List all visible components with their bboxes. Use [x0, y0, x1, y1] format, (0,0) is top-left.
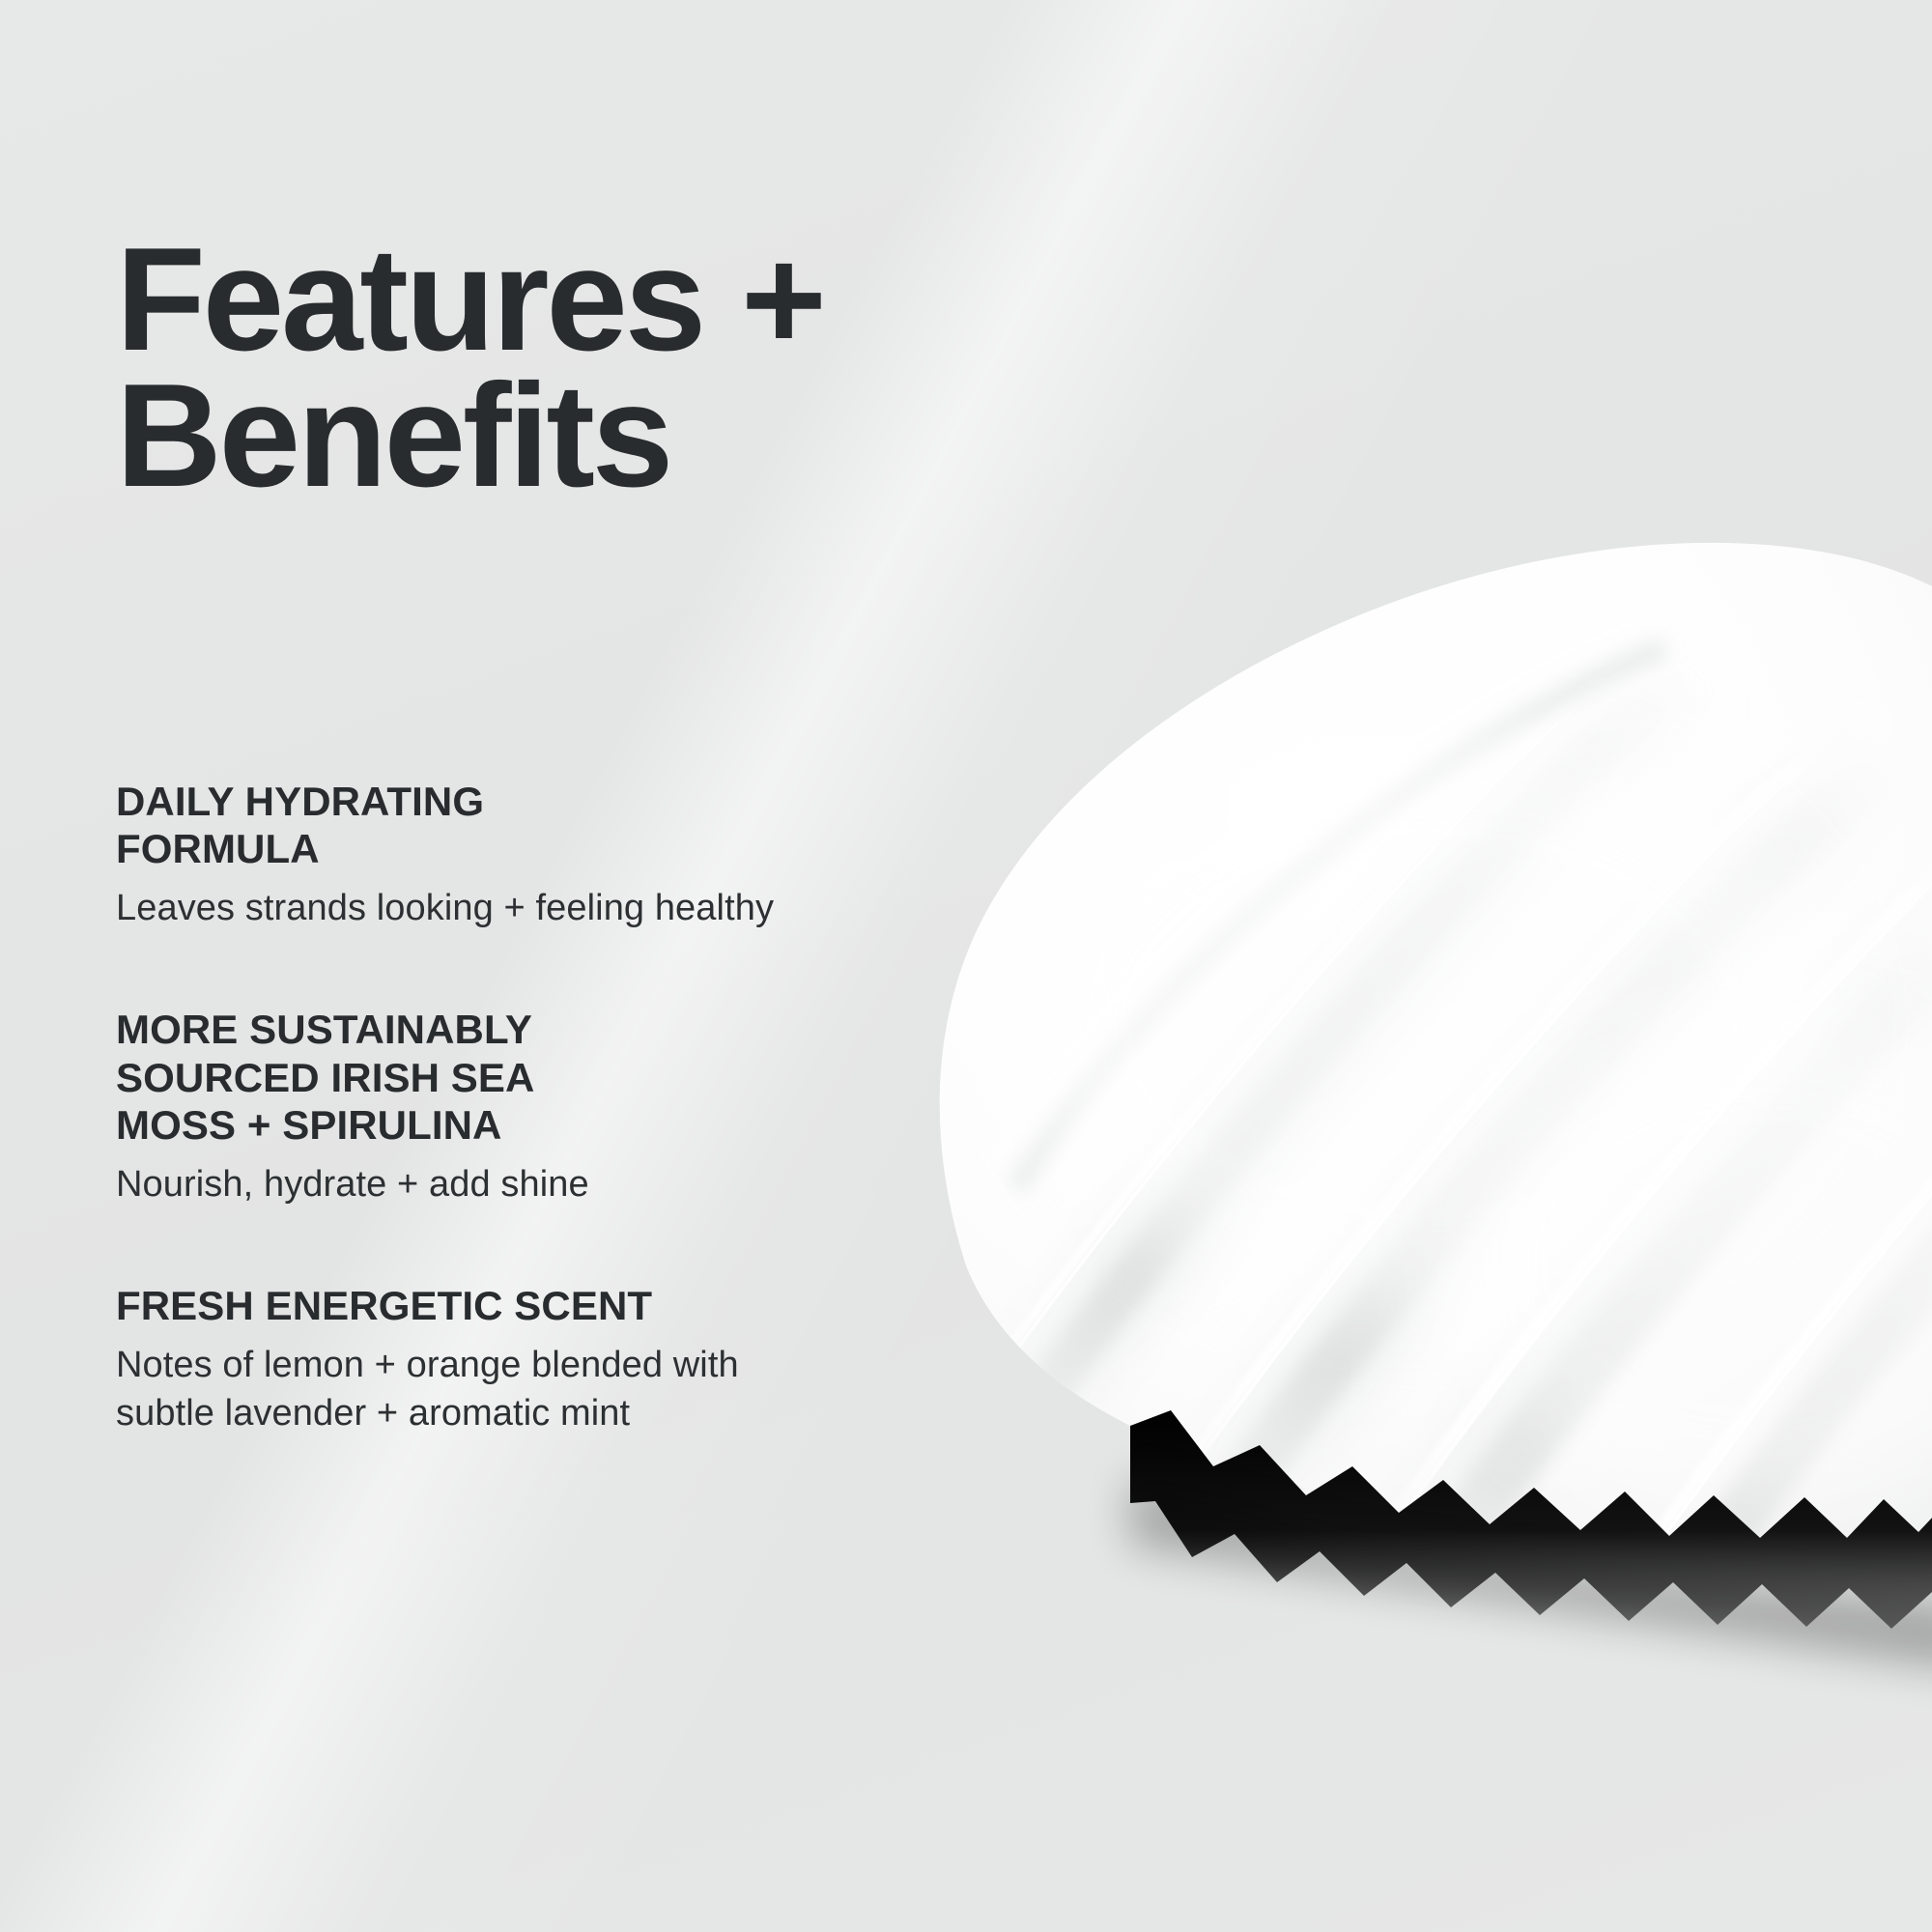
page-title-line-2: Benefits: [116, 368, 947, 504]
feature-item-irish-sea-moss-spirulina: MORE SUSTAINABLY SOURCED IRISH SEA MOSS …: [116, 1006, 908, 1208]
feature-description: Nourish, hydrate + add shine: [116, 1160, 792, 1208]
marketing-slide: Features + Benefits DAILY HYDRATING FORM…: [0, 0, 1932, 1932]
feature-description: Leaves strands looking + feeling healthy: [116, 884, 792, 932]
feature-heading: FRESH ENERGETIC SCENT: [116, 1282, 657, 1329]
feature-item-daily-hydrating-formula: DAILY HYDRATING FORMULA Leaves strands l…: [116, 778, 908, 932]
page-title: Features + Benefits: [116, 232, 947, 505]
feature-heading: MORE SUSTAINABLY SOURCED IRISH SEA MOSS …: [116, 1006, 657, 1148]
feature-description: Notes of lemon + orange blended with sub…: [116, 1341, 792, 1437]
feature-item-fresh-energetic-scent: FRESH ENERGETIC SCENT Notes of lemon + o…: [116, 1282, 908, 1437]
content-column: Features + Benefits DAILY HYDRATING FORM…: [116, 0, 947, 1932]
page-title-line-1: Features +: [116, 232, 947, 368]
feature-heading: DAILY HYDRATING FORMULA: [116, 778, 657, 872]
feature-list: DAILY HYDRATING FORMULA Leaves strands l…: [116, 778, 908, 1437]
